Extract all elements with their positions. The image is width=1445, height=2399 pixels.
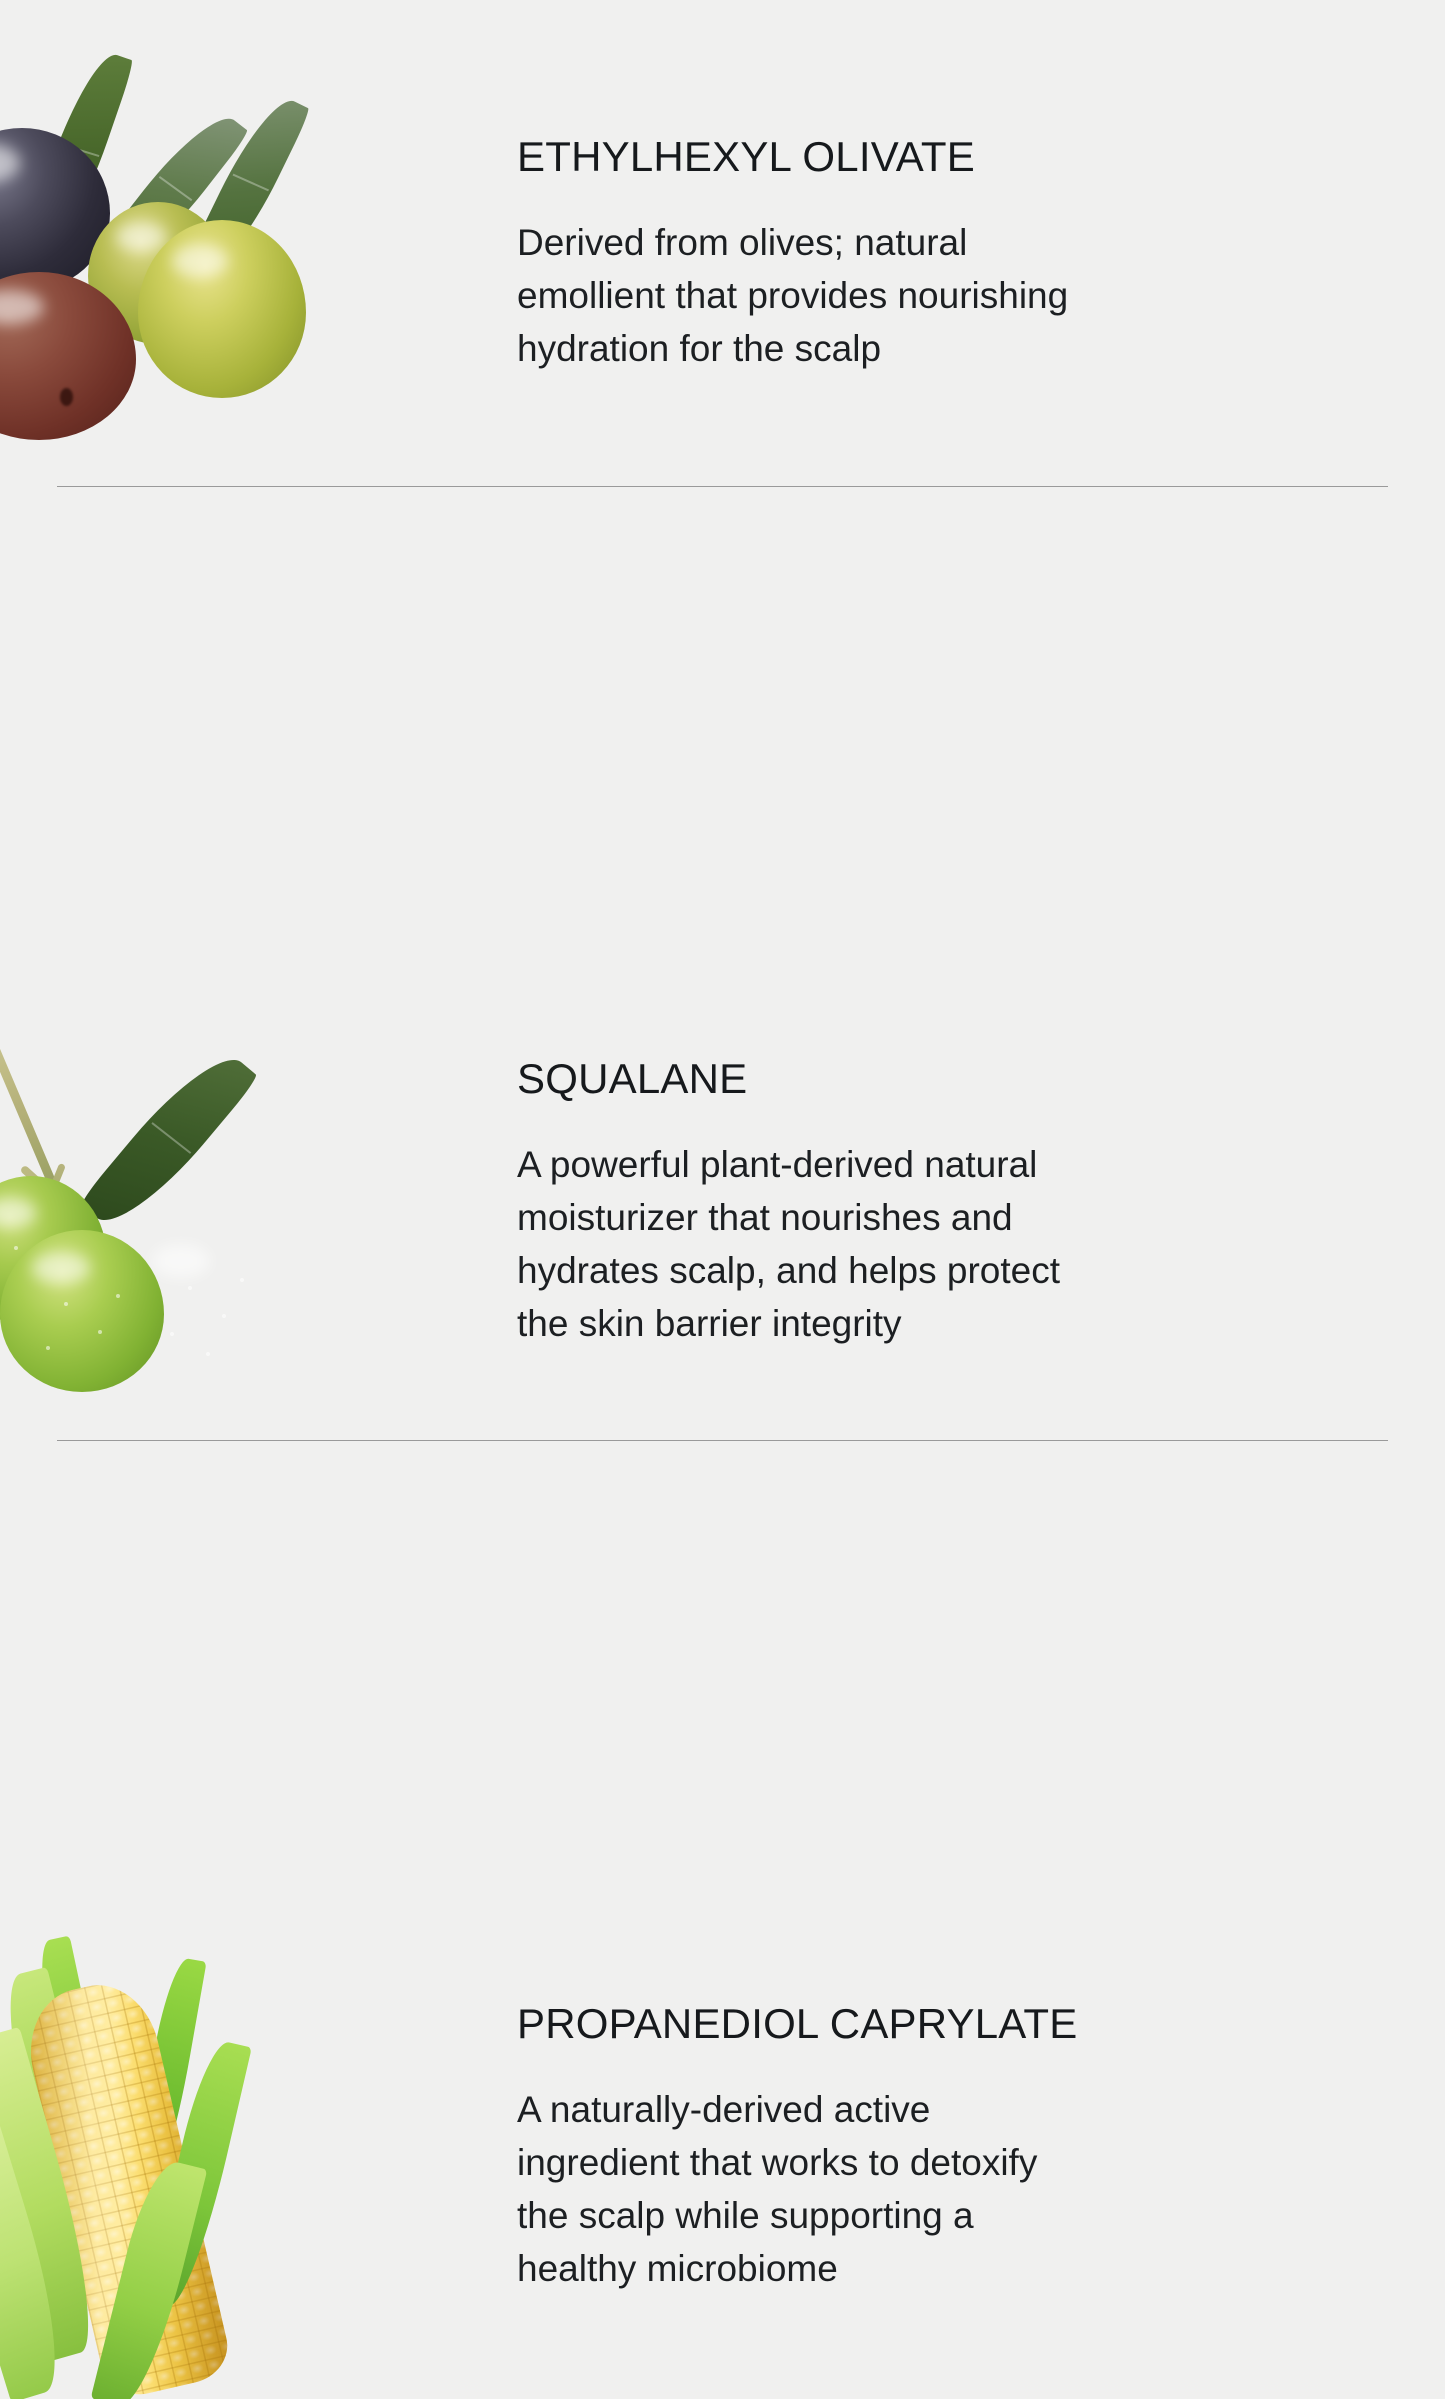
green-olive-shape — [138, 220, 306, 398]
ingredient-description: Derived from olives; natural emollient t… — [517, 216, 1197, 375]
ingredient-benefits-page: ETHYLHEXYL OLIVATE Derived from olives; … — [0, 0, 1445, 1445]
description-line: Derived from olives; natural — [517, 216, 1197, 269]
description-line: the scalp while supporting a — [517, 2189, 1197, 2242]
corn-cob-with-husk-image — [0, 1929, 300, 2399]
ingredient-text-block: PROPANEDIOL CAPRYLATE A naturally-derive… — [517, 2002, 1217, 2295]
description-line: healthy microbiome — [517, 2242, 1197, 2295]
description-line: hydration for the scalp — [517, 322, 1197, 375]
mixed-olives-with-leaves-image — [0, 20, 320, 450]
description-line: ingredient that works to detoxify — [517, 2136, 1197, 2189]
ingredient-section-ethylhexyl-olivate: ETHYLHEXYL OLIVATE Derived from olives; … — [0, 0, 1445, 487]
description-line: emollient that provides nourishing — [517, 269, 1197, 322]
ingredient-section-squalane: SQUALANE A powerful plant-derived natura… — [0, 487, 1445, 954]
ingredient-heading: PROPANEDIOL CAPRYLATE — [517, 2002, 1217, 2047]
ingredient-text-block: ETHYLHEXYL OLIVATE Derived from olives; … — [517, 135, 1217, 375]
description-line: A naturally-derived active — [517, 2083, 1197, 2136]
ingredient-section-propanediol-caprylate: PROPANEDIOL CAPRYLATE A naturally-derive… — [0, 954, 1445, 1445]
ingredient-description: A naturally-derived active ingredient th… — [517, 2083, 1197, 2295]
ingredient-heading: ETHYLHEXYL OLIVATE — [517, 135, 1217, 180]
